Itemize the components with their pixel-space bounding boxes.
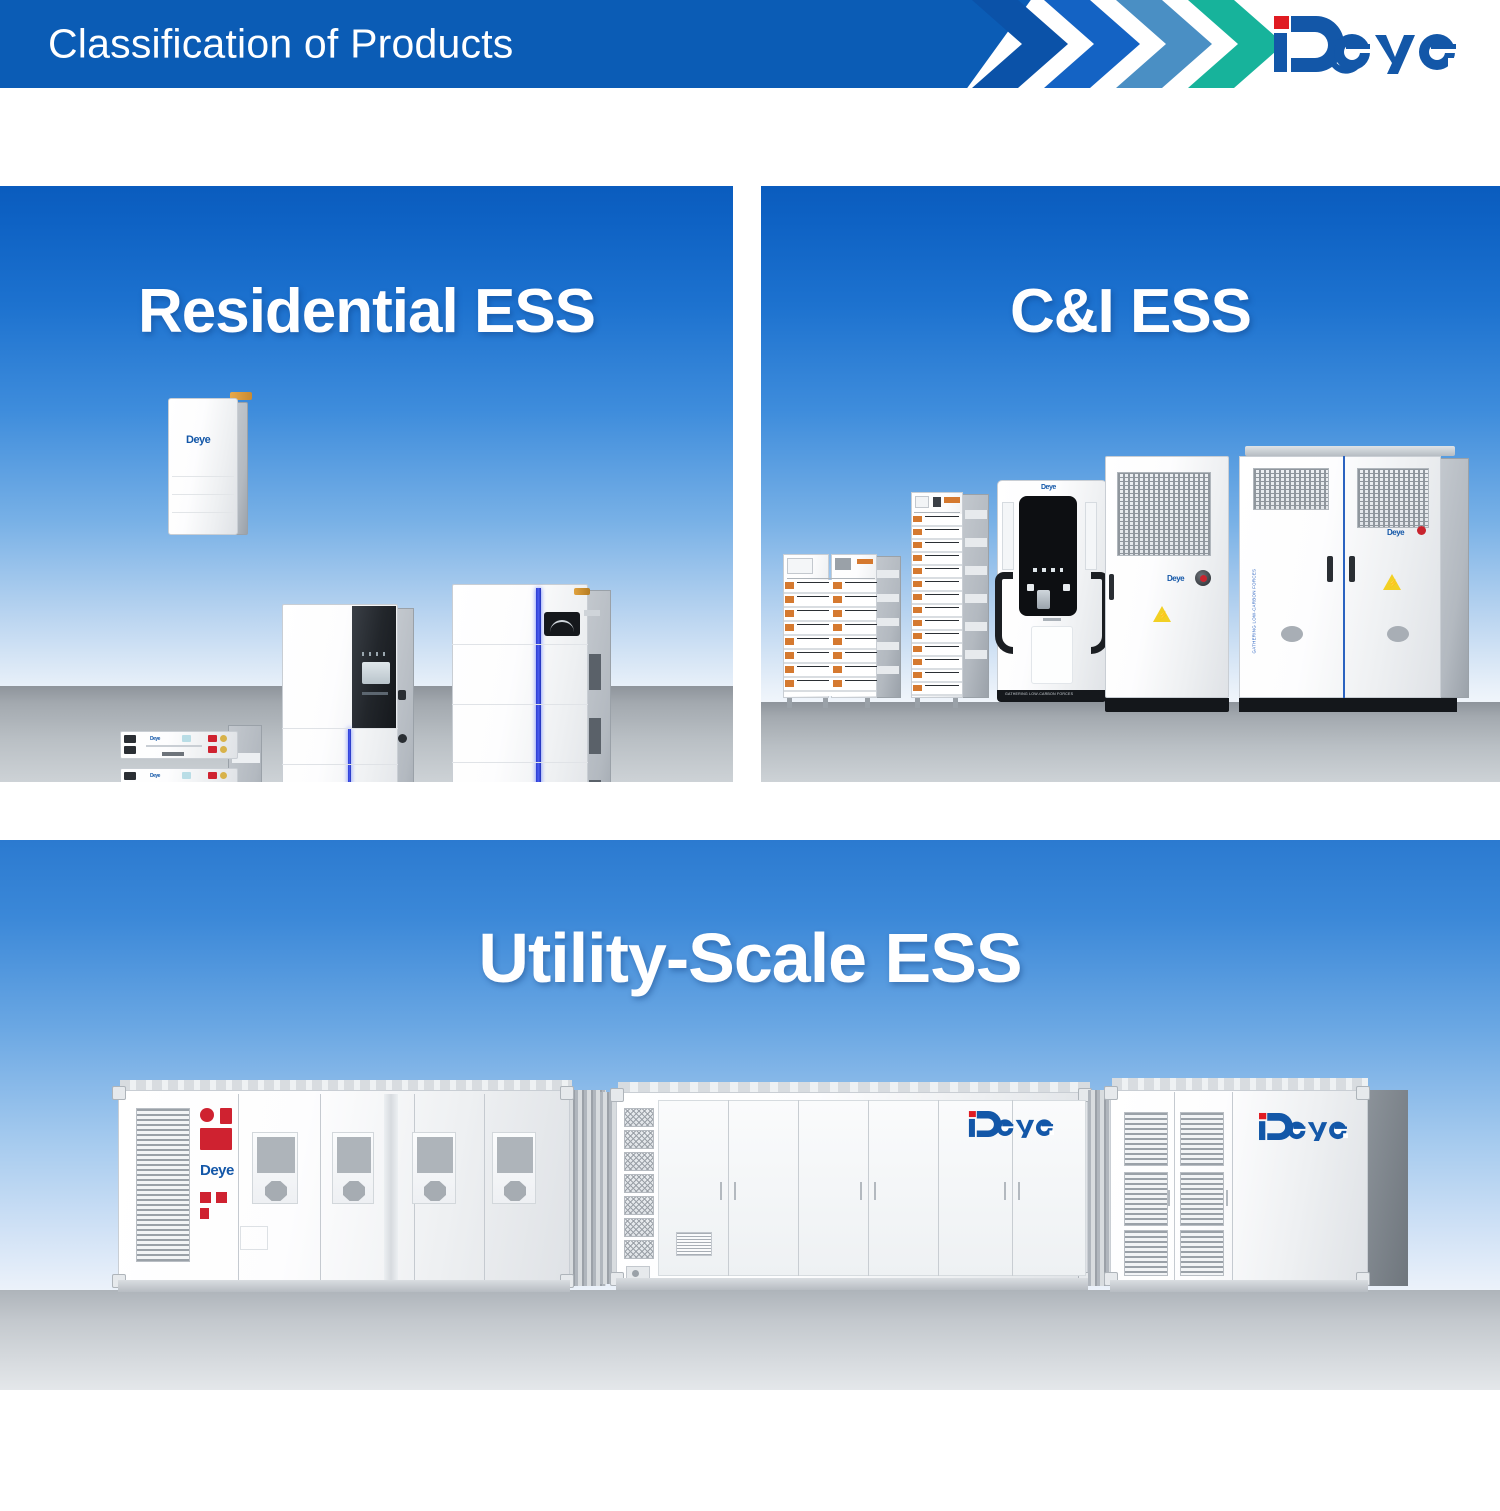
led-strip bbox=[536, 588, 541, 782]
ci-cabinet-small: Deye bbox=[1105, 456, 1229, 712]
panel-ci-ess: C&I ESS bbox=[761, 186, 1500, 782]
louver-vent bbox=[1124, 1172, 1168, 1226]
container-brand-logo bbox=[1258, 1112, 1348, 1141]
fire-alarm-panel bbox=[200, 1108, 214, 1122]
inverter-display bbox=[362, 662, 390, 684]
card-reader[interactable] bbox=[1037, 590, 1050, 609]
panel-utility-scale-ess: Utility-Scale ESS Deye bbox=[0, 840, 1500, 1390]
louver-vent bbox=[1180, 1112, 1224, 1166]
louver-vent bbox=[1124, 1112, 1168, 1166]
wall-battery-brand: Deye bbox=[186, 434, 210, 446]
ventilation-grille bbox=[1357, 468, 1429, 528]
all-in-one-tower-battery bbox=[452, 584, 622, 782]
panel-title-utility: Utility-Scale ESS bbox=[0, 918, 1500, 998]
ci-cabinet-large: Deye GATHERING LOW-CARBON FORCES bbox=[1239, 444, 1469, 712]
deye-logo-mark bbox=[1272, 14, 1458, 74]
led-strip bbox=[348, 728, 351, 782]
chevron-4-icon bbox=[1188, 0, 1284, 88]
deye-logo bbox=[1272, 14, 1458, 74]
panel-residential-ess: Residential ESS Deye bbox=[0, 186, 733, 782]
panel-title-ci: C&I ESS bbox=[761, 276, 1500, 347]
louver-vent bbox=[1180, 1172, 1224, 1226]
electrical-hazard-icon bbox=[1383, 574, 1401, 590]
container-door bbox=[252, 1132, 298, 1204]
rack-battery-stack: Deye Deye bbox=[120, 731, 260, 782]
container-door bbox=[332, 1132, 374, 1204]
container-door bbox=[412, 1132, 456, 1204]
rack-module: Deye bbox=[120, 731, 238, 759]
ev-charger-brand: Deye bbox=[1041, 484, 1056, 491]
panel-title-residential: Residential ESS bbox=[0, 276, 733, 347]
louver-vent bbox=[136, 1108, 190, 1262]
louver-vent bbox=[1124, 1230, 1168, 1276]
stacked-tower-inverter-battery bbox=[282, 604, 414, 782]
container-ess-louvered bbox=[1088, 1078, 1408, 1298]
battery-rack-single bbox=[911, 492, 989, 702]
product-classification-page: Classification of Products bbox=[0, 0, 1500, 1511]
ev-charger: Deye GATHERING LOW-CARBON FORCES bbox=[997, 480, 1107, 710]
ventilation-grille bbox=[1253, 468, 1329, 510]
louver-vent bbox=[1180, 1230, 1224, 1276]
wall-mounted-battery: Deye bbox=[168, 398, 246, 535]
battery-rack-double bbox=[783, 554, 899, 702]
container-ess-large bbox=[600, 1082, 1100, 1298]
cabinet-side-text: GATHERING LOW-CARBON FORCES bbox=[1252, 576, 1257, 654]
mesh-grille-column bbox=[624, 1108, 654, 1260]
page-header: Classification of Products bbox=[0, 0, 1500, 88]
electrical-hazard-icon bbox=[1153, 606, 1171, 622]
container-door bbox=[492, 1132, 536, 1204]
container-brand: Deye bbox=[200, 1162, 234, 1179]
ventilation-grille bbox=[1117, 472, 1211, 556]
ev-charger-footer-text: GATHERING LOW-CARBON FORCES bbox=[1005, 692, 1099, 696]
cabinet-brand: Deye bbox=[1387, 528, 1404, 537]
page-title: Classification of Products bbox=[48, 21, 514, 68]
container-ess-doors: Deye bbox=[104, 1080, 604, 1298]
container-brand-logo bbox=[968, 1110, 1054, 1138]
cabinet-brand: Deye bbox=[1167, 574, 1184, 583]
rack-module: Deye bbox=[120, 768, 238, 782]
